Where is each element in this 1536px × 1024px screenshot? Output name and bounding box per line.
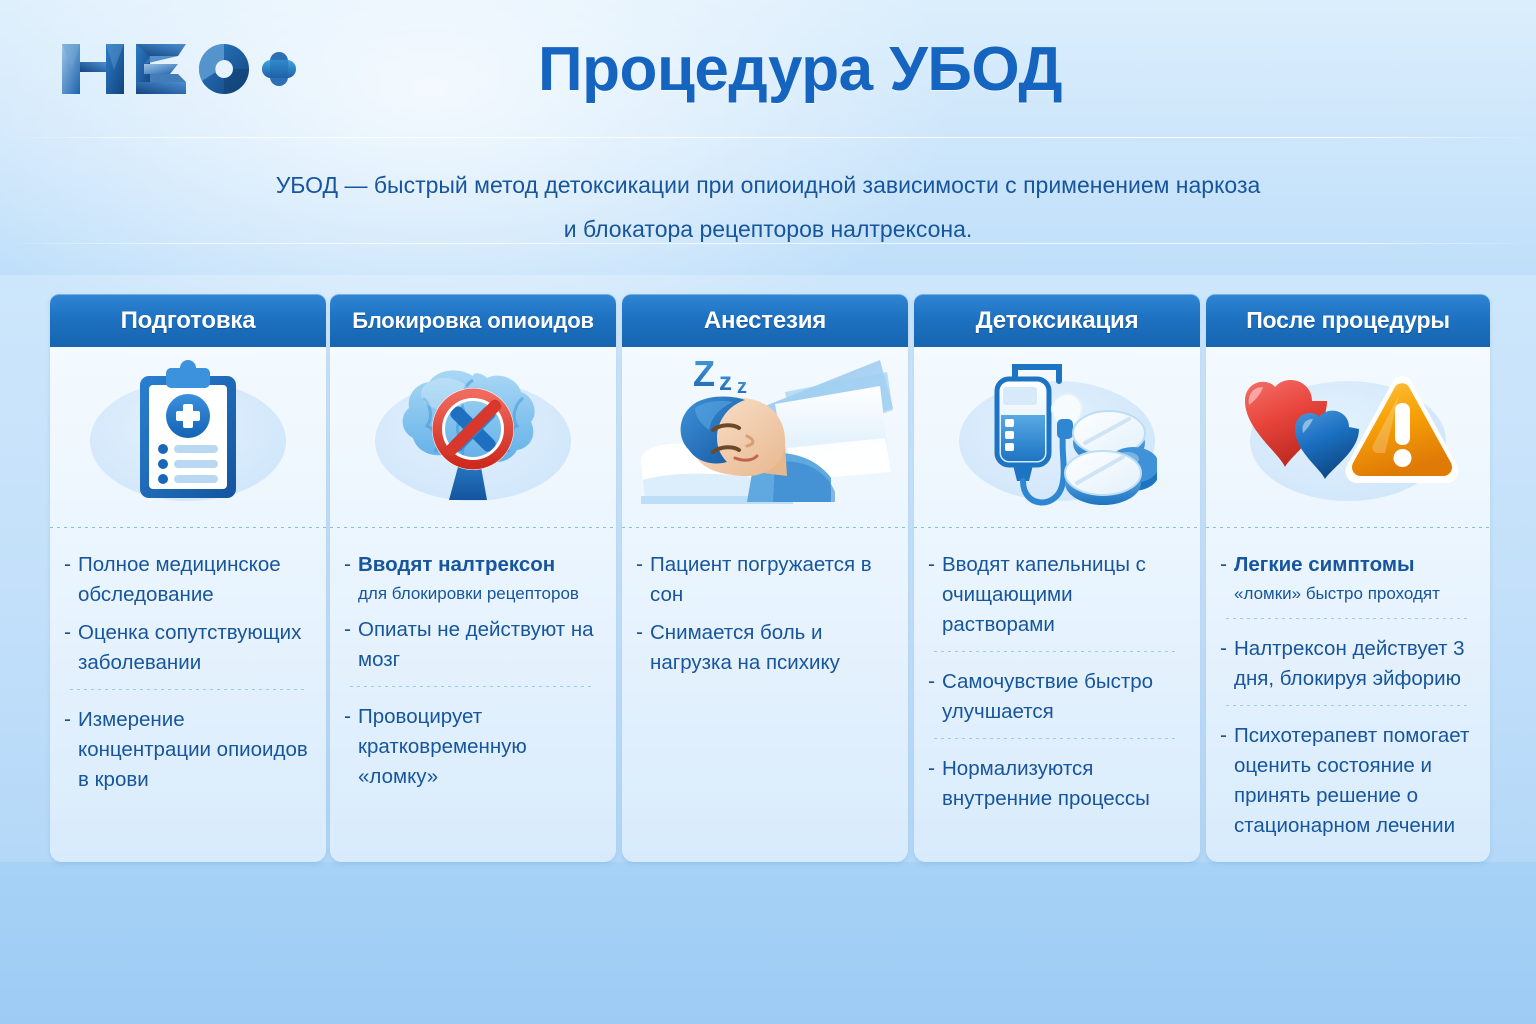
list-item: - Вводят капельницы с очищающими раствор… — [928, 550, 1184, 640]
list-item: - Полное медицинское обследование — [64, 550, 310, 610]
bullet-group: - Налтрексон действует 3 дня, блокируя э… — [1220, 634, 1474, 694]
step-card-posle-procedury[interactable]: После процедуры — [1206, 294, 1490, 862]
list-item: - Налтрексон действует 3 дня, блокируя э… — [1220, 634, 1474, 694]
bullet-group: - Вводят капельницы с очищающими раствор… — [928, 550, 1184, 640]
sleeping-patient-icon: Z z z — [635, 352, 895, 522]
bullet-text-strong: Вводят налтрексон — [358, 553, 555, 576]
step-card-header: Детоксикация — [914, 294, 1200, 347]
step-card-title: Анестезия — [704, 307, 826, 335]
step-card-title: Детоксикация — [976, 307, 1139, 335]
bullet-text: Пациент погружается в сон — [650, 550, 892, 610]
bullet-dash: - — [636, 550, 643, 580]
bullet-dash: - — [344, 615, 351, 645]
step-bullet-list: - Полное медицинское обследование - Оцен… — [50, 528, 326, 813]
iv-drip-pills-icon — [957, 357, 1157, 517]
bullet-text: Вводят капельницы с очищающими растворам… — [942, 550, 1184, 640]
bullet-group: - Полное медицинское обследование - Оцен… — [64, 550, 310, 678]
bullet-group: - Психотерапевт помогает оценить состоян… — [1220, 721, 1474, 841]
step-card-header: После процедуры — [1206, 294, 1490, 347]
clipboard-medical-icon — [118, 360, 258, 515]
step-bullet-list: - Вводят капельницы с очищающими раствор… — [914, 528, 1200, 832]
bullet-dash: - — [928, 550, 935, 580]
bullet-dash: - — [64, 705, 71, 735]
bullet-group-separator — [934, 738, 1178, 739]
subtitle-line-1: УБОД — быстрый метод детоксикации при оп… — [168, 163, 1368, 207]
list-item: - Самочувствие быстро улучшается — [928, 667, 1184, 727]
step-icon-zone — [50, 347, 326, 527]
bullet-text: Самочувствие быстро улучшается — [942, 667, 1184, 727]
bullet-text: Опиаты не действуют на мозг — [358, 615, 600, 675]
step-bullet-list: - Вводят налтрексон для блокировки рецеп… — [330, 528, 616, 810]
bullet-text: Налтрексон действует 3 дня, блокируя эйф… — [1234, 634, 1474, 694]
bullet-group-separator — [1226, 618, 1468, 619]
step-card-header: Подготовка — [50, 294, 326, 347]
bullet-group-separator — [934, 651, 1178, 652]
page-title: Процедура УБОД — [300, 34, 1300, 105]
svg-text:z: z — [719, 366, 732, 396]
step-card-header: Блокировка опиоидов — [330, 294, 616, 347]
list-item: - Психотерапевт помогает оценить состоян… — [1220, 721, 1474, 841]
list-item: - Снимается боль и нагрузка на психику — [636, 618, 892, 678]
bullet-dash: - — [928, 754, 935, 784]
step-bullet-list: - Легкие симптомы «ломки» быстро проходя… — [1206, 528, 1490, 859]
bullet-dash: - — [928, 667, 935, 697]
bullet-subtext: для блокировки рецепторов — [358, 580, 579, 607]
hearts-warning-icon — [1233, 365, 1463, 510]
steps-card-row: Подготовка — [50, 294, 1490, 864]
infographic-page: Процедура УБОД УБОД — быстрый метод дето… — [0, 0, 1536, 1024]
list-item: - Нормализуются внутренние процессы — [928, 754, 1184, 814]
bullet-dash: - — [344, 550, 351, 580]
bullet-group: - Вводят налтрексон для блокировки рецеп… — [344, 550, 600, 675]
list-item: - Провоцирует кратковременную «ломку» — [344, 702, 600, 792]
bullet-dash: - — [64, 550, 71, 580]
step-icon-zone — [330, 347, 616, 527]
step-card-header: Анестезия — [622, 294, 908, 347]
bullet-text: Полное медицинское обследование — [78, 550, 310, 610]
step-card-title: Блокировка опиоидов — [352, 308, 594, 334]
step-card-anesteziya[interactable]: Анестезия — [622, 294, 908, 862]
list-item: - Измерение концентрации опиоидов в кров… — [64, 705, 310, 795]
bullet-dash: - — [344, 702, 351, 732]
bullet-text-strong: Легкие симптомы — [1234, 553, 1415, 576]
step-card-title: После процедуры — [1246, 307, 1450, 334]
bullet-group-separator — [1226, 705, 1468, 706]
bullet-subtext: «ломки» быстро проходят — [1234, 580, 1440, 607]
bullet-text: Провоцирует кратковременную «ломку» — [358, 702, 600, 792]
list-item: - Оценка сопутствующих заболевании — [64, 618, 310, 678]
bullet-group-separator — [70, 689, 304, 690]
bullet-group: - Самочувствие быстро улучшается — [928, 667, 1184, 727]
step-icon-zone — [1206, 347, 1490, 527]
page-subtitle: УБОД — быстрый метод детоксикации при оп… — [168, 163, 1368, 251]
step-card-podgotovka[interactable]: Подготовка — [50, 294, 326, 862]
bullet-group: - Измерение концентрации опиоидов в кров… — [64, 705, 310, 795]
bullet-text: Снимается боль и нагрузка на психику — [650, 618, 892, 678]
list-item: - Опиаты не действуют на мозг — [344, 615, 600, 675]
step-bullet-list: - Пациент погружается в сон - Снимается … — [622, 528, 908, 696]
bullet-text: Нормализуются внутренние процессы — [942, 754, 1184, 814]
bullet-group: - Нормализуются внутренние процессы — [928, 754, 1184, 814]
bullet-text: Психотерапевт помогает оценить состояние… — [1234, 721, 1474, 841]
bullet-group: - Провоцирует кратковременную «ломку» — [344, 702, 600, 792]
list-item: - Легкие симптомы «ломки» быстро проходя… — [1220, 550, 1474, 607]
background-bottom-band — [0, 862, 1536, 1024]
bullet-group: - Пациент погружается в сон - Снимается … — [636, 550, 892, 678]
bullet-dash: - — [64, 618, 71, 648]
bullet-text: Измерение концентрации опиоидов в крови — [78, 705, 310, 795]
zzz-text: Z — [693, 353, 715, 394]
step-card-blokirovka-opioidov[interactable]: Блокировка опиоидов — [330, 294, 616, 862]
bullet-dash: - — [1220, 721, 1227, 751]
step-icon-zone — [914, 347, 1200, 527]
bullet-group-separator — [350, 686, 594, 687]
svg-text:z: z — [737, 376, 747, 398]
bullet-dash: - — [636, 618, 643, 648]
bullet-text: Легкие симптомы «ломки» быстро проходят — [1234, 550, 1440, 607]
bullet-group: - Легкие симптомы «ломки» быстро проходя… — [1220, 550, 1474, 607]
step-card-detoksikaciya[interactable]: Детоксикация — [914, 294, 1200, 862]
bullet-text: Вводят налтрексон для блокировки рецепто… — [358, 550, 579, 607]
step-icon-zone: Z z z — [622, 347, 908, 527]
brain-blocked-icon — [383, 360, 563, 515]
step-card-title: Подготовка — [121, 307, 256, 335]
list-item: - Вводят налтрексон для блокировки рецеп… — [344, 550, 600, 607]
subtitle-line-2: и блокатора рецепторов налтрексона. — [168, 207, 1368, 251]
bullet-text: Оценка сопутствующих заболевании — [78, 618, 310, 678]
neo-plus-logo — [58, 38, 298, 100]
header-divider — [0, 137, 1536, 138]
bullet-dash: - — [1220, 550, 1227, 580]
list-item: - Пациент погружается в сон — [636, 550, 892, 610]
bullet-dash: - — [1220, 634, 1227, 664]
